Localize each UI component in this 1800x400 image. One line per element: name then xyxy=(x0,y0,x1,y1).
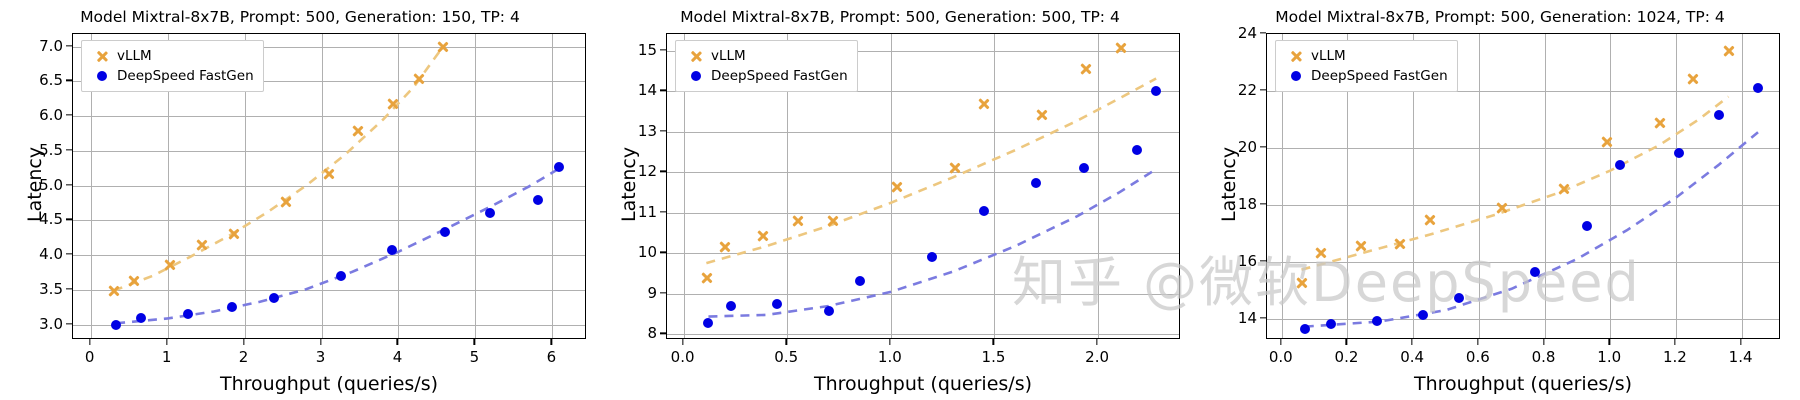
data-point-vllm xyxy=(1114,42,1127,55)
circle-marker-icon xyxy=(1283,71,1309,81)
y-axis-tick-label: 12 xyxy=(638,162,657,180)
x-marker-icon xyxy=(279,196,292,209)
circle-marker-icon xyxy=(269,293,279,303)
x-marker-icon xyxy=(756,230,769,243)
x-marker-icon xyxy=(1079,62,1092,75)
x-axis-tick-label: 1.0 xyxy=(1597,348,1621,366)
panel-title: Model Mixtral-8x7B, Prompt: 500, Generat… xyxy=(0,8,600,26)
circle-marker-icon xyxy=(387,245,397,255)
legend-item-fastgen[interactable]: DeepSpeed FastGen xyxy=(683,66,848,86)
circle-marker-icon xyxy=(1615,160,1625,170)
data-point-fastgen xyxy=(227,302,237,312)
legend-item-vllm[interactable]: vLLM xyxy=(1283,46,1448,66)
data-point-fastgen xyxy=(554,162,564,172)
figure-root: Model Mixtral-8x7B, Prompt: 500, Generat… xyxy=(0,0,1800,400)
data-point-fastgen xyxy=(1031,178,1041,188)
y-axis-tick-mark xyxy=(660,211,666,212)
chart-panel-2: Model Mixtral-8x7B, Prompt: 500, Generat… xyxy=(600,0,1200,400)
y-axis-label: Latency xyxy=(1218,147,1240,222)
circle-marker-icon xyxy=(485,208,495,218)
circle-marker-icon xyxy=(1031,178,1041,188)
circle-marker-icon xyxy=(136,313,146,323)
x-marker-icon xyxy=(1495,201,1508,214)
y-axis-tick-mark xyxy=(1260,146,1266,147)
x-axis-tick-label: 0.8 xyxy=(1532,348,1556,366)
x-marker-icon xyxy=(1686,72,1699,85)
panel-title: Model Mixtral-8x7B, Prompt: 500, Generat… xyxy=(600,8,1200,26)
y-axis-tick-mark xyxy=(660,292,666,293)
y-axis-tick-mark xyxy=(66,288,72,289)
y-axis-tick-mark xyxy=(660,90,666,91)
data-point-vllm xyxy=(756,230,769,243)
x-marker-icon xyxy=(351,125,364,138)
y-axis-tick-mark xyxy=(66,45,72,46)
circle-marker-icon xyxy=(227,302,237,312)
data-point-vllm xyxy=(700,271,713,284)
x-marker-icon xyxy=(719,240,732,253)
data-point-fastgen xyxy=(1418,310,1428,320)
data-point-fastgen xyxy=(183,309,193,319)
y-axis-tick-mark xyxy=(66,114,72,115)
y-axis-tick-mark xyxy=(1260,260,1266,261)
y-axis-tick-label: 4.0 xyxy=(39,245,63,263)
legend-label: DeepSpeed FastGen xyxy=(709,68,848,84)
legend-item-vllm[interactable]: vLLM xyxy=(89,46,254,66)
data-point-vllm xyxy=(1495,201,1508,214)
data-point-vllm xyxy=(322,168,335,181)
data-point-fastgen xyxy=(440,227,450,237)
x-axis-tick-label: 1.0 xyxy=(878,348,902,366)
data-point-vllm xyxy=(791,215,804,228)
data-point-vllm xyxy=(1036,108,1049,121)
data-point-fastgen xyxy=(824,306,834,316)
y-axis-tick-label: 3.0 xyxy=(39,315,63,333)
y-axis-tick-label: 6.0 xyxy=(39,106,63,124)
y-axis-tick-label: 16 xyxy=(1238,252,1257,270)
circle-marker-icon xyxy=(855,276,865,286)
legend-label: vLLM xyxy=(709,48,746,64)
circle-marker-icon xyxy=(703,318,713,328)
plot-area: vLLMDeepSpeed FastGen xyxy=(1266,33,1780,339)
data-point-vllm xyxy=(1600,135,1613,148)
y-axis-label: Latency xyxy=(618,147,640,222)
y-axis-tick-mark xyxy=(66,184,72,185)
legend-item-fastgen[interactable]: DeepSpeed FastGen xyxy=(89,66,254,86)
data-point-vllm xyxy=(1722,45,1735,58)
x-axis-tick-label: 0.6 xyxy=(1466,348,1490,366)
legend-label: DeepSpeed FastGen xyxy=(115,68,254,84)
circle-marker-icon xyxy=(979,206,989,216)
x-marker-icon xyxy=(227,228,240,241)
circle-marker-icon xyxy=(1372,316,1382,326)
y-axis-tick-label: 14 xyxy=(1238,309,1257,327)
data-point-vllm xyxy=(1295,277,1308,290)
circle-marker-icon xyxy=(1079,163,1089,173)
circle-marker-icon xyxy=(1418,310,1428,320)
legend-item-vllm[interactable]: vLLM xyxy=(683,46,848,66)
data-point-vllm xyxy=(826,215,839,228)
data-point-fastgen xyxy=(533,195,543,205)
data-point-vllm xyxy=(1653,116,1666,129)
y-axis-tick-mark xyxy=(66,323,72,324)
x-marker-icon xyxy=(386,98,399,111)
data-point-fastgen xyxy=(269,293,279,303)
data-point-vllm xyxy=(351,125,364,138)
y-axis-label: Latency xyxy=(24,147,46,222)
data-point-fastgen xyxy=(927,252,937,262)
x-axis-tick-label: 1.5 xyxy=(982,348,1006,366)
circle-marker-icon xyxy=(89,71,115,81)
data-point-vllm xyxy=(413,72,426,85)
x-marker-icon xyxy=(1354,240,1367,253)
legend-label: DeepSpeed FastGen xyxy=(1309,68,1448,84)
data-point-vllm xyxy=(1079,62,1092,75)
legend: vLLMDeepSpeed FastGen xyxy=(1275,40,1458,92)
data-point-fastgen xyxy=(387,245,397,255)
legend: vLLMDeepSpeed FastGen xyxy=(81,40,264,92)
circle-marker-icon xyxy=(1753,83,1763,93)
y-axis-tick-mark xyxy=(66,80,72,81)
data-point-vllm xyxy=(1315,246,1328,259)
circle-marker-icon xyxy=(336,271,346,281)
x-axis-tick-label: 2 xyxy=(239,348,249,366)
y-axis-tick-mark xyxy=(66,219,72,220)
x-axis-label: Throughput (queries/s) xyxy=(1266,373,1780,395)
y-axis-tick-label: 9 xyxy=(647,284,657,302)
x-axis-tick-label: 0.0 xyxy=(1269,348,1293,366)
circle-marker-icon xyxy=(927,252,937,262)
data-point-vllm xyxy=(1354,240,1367,253)
data-point-vllm xyxy=(107,284,120,297)
y-axis-tick-label: 7.0 xyxy=(39,37,63,55)
x-marker-icon xyxy=(791,215,804,228)
y-axis-tick-label: 8 xyxy=(647,324,657,342)
data-point-fastgen xyxy=(485,208,495,218)
circle-marker-icon xyxy=(1582,221,1592,231)
data-point-vllm xyxy=(163,258,176,271)
x-axis-tick-label: 0 xyxy=(85,348,95,366)
data-point-vllm xyxy=(949,161,962,174)
y-axis-tick-mark xyxy=(66,149,72,150)
data-point-fastgen xyxy=(1132,145,1142,155)
circle-marker-icon xyxy=(726,301,736,311)
x-axis-tick-label: 5 xyxy=(470,348,480,366)
circle-marker-icon xyxy=(183,309,193,319)
circle-marker-icon xyxy=(1714,110,1724,120)
circle-marker-icon xyxy=(683,71,709,81)
trend-line-fastgen xyxy=(1305,132,1758,326)
y-axis-tick-label: 11 xyxy=(638,203,657,221)
y-axis-tick-mark xyxy=(660,49,666,50)
data-point-vllm xyxy=(891,180,904,193)
circle-marker-icon xyxy=(1132,145,1142,155)
data-point-fastgen xyxy=(1326,319,1336,329)
y-axis-tick-label: 24 xyxy=(1238,24,1257,42)
y-axis-tick-label: 22 xyxy=(1238,81,1257,99)
plot-area: vLLMDeepSpeed FastGen xyxy=(72,33,586,339)
data-point-vllm xyxy=(196,238,209,251)
legend-item-fastgen[interactable]: DeepSpeed FastGen xyxy=(1283,66,1448,86)
data-point-fastgen xyxy=(979,206,989,216)
x-marker-icon xyxy=(107,284,120,297)
data-point-fastgen xyxy=(772,299,782,309)
data-point-fastgen xyxy=(1300,324,1310,334)
x-marker-icon xyxy=(978,97,991,110)
x-axis-tick-label: 0.4 xyxy=(1400,348,1424,366)
x-marker-icon xyxy=(826,215,839,228)
x-marker-icon xyxy=(1722,45,1735,58)
legend: vLLMDeepSpeed FastGen xyxy=(675,40,858,92)
circle-marker-icon xyxy=(1300,324,1310,334)
y-axis-tick-mark xyxy=(660,333,666,334)
x-marker-icon xyxy=(322,168,335,181)
x-axis-tick-label: 1.2 xyxy=(1663,348,1687,366)
data-point-fastgen xyxy=(1530,267,1540,277)
y-axis-tick-label: 15 xyxy=(638,41,657,59)
trend-line-vllm xyxy=(706,79,1156,264)
x-marker-icon xyxy=(89,50,115,63)
plot-area: vLLMDeepSpeed FastGen xyxy=(666,33,1180,339)
circle-marker-icon xyxy=(1151,86,1161,96)
circle-marker-icon xyxy=(1454,293,1464,303)
data-point-fastgen xyxy=(1582,221,1592,231)
data-point-fastgen xyxy=(855,276,865,286)
y-axis-tick-mark xyxy=(1260,317,1266,318)
y-axis-tick-mark xyxy=(1260,203,1266,204)
x-axis-tick-label: 1.4 xyxy=(1729,348,1753,366)
data-point-vllm xyxy=(1558,182,1571,195)
data-point-vllm xyxy=(1394,238,1407,251)
y-axis-tick-mark xyxy=(1260,32,1266,33)
chart-panel-1: Model Mixtral-8x7B, Prompt: 500, Generat… xyxy=(0,0,600,400)
circle-marker-icon xyxy=(1530,267,1540,277)
data-point-fastgen xyxy=(1372,316,1382,326)
x-axis-tick-label: 4 xyxy=(393,348,403,366)
x-axis-tick-label: 0.5 xyxy=(774,348,798,366)
data-point-fastgen xyxy=(136,313,146,323)
legend-label: vLLM xyxy=(115,48,152,64)
x-axis-tick-label: 0.0 xyxy=(671,348,695,366)
x-marker-icon xyxy=(1036,108,1049,121)
data-point-vllm xyxy=(1423,214,1436,227)
y-axis-tick-label: 18 xyxy=(1238,195,1257,213)
data-point-vllm xyxy=(279,196,292,209)
x-marker-icon xyxy=(437,40,450,53)
data-point-vllm xyxy=(1686,72,1699,85)
circle-marker-icon xyxy=(1674,148,1684,158)
panel-title: Model Mixtral-8x7B, Prompt: 500, Generat… xyxy=(1200,8,1800,26)
data-point-fastgen xyxy=(1079,163,1089,173)
legend-label: vLLM xyxy=(1309,48,1346,64)
x-marker-icon xyxy=(413,72,426,85)
data-point-vllm xyxy=(127,274,140,287)
x-marker-icon xyxy=(1394,238,1407,251)
x-marker-icon xyxy=(1423,214,1436,227)
y-axis-tick-mark xyxy=(660,130,666,131)
y-axis-tick-mark xyxy=(660,252,666,253)
y-axis-tick-label: 14 xyxy=(638,81,657,99)
y-axis-tick-label: 13 xyxy=(638,122,657,140)
circle-marker-icon xyxy=(772,299,782,309)
x-axis-tick-label: 0.2 xyxy=(1335,348,1359,366)
x-axis-tick-label: 2.0 xyxy=(1085,348,1109,366)
data-point-fastgen xyxy=(1615,160,1625,170)
circle-marker-icon xyxy=(1326,319,1336,329)
x-axis-tick-label: 3 xyxy=(316,348,326,366)
data-point-vllm xyxy=(386,98,399,111)
data-point-fastgen xyxy=(111,320,121,330)
y-axis-tick-label: 20 xyxy=(1238,138,1257,156)
x-marker-icon xyxy=(1600,135,1613,148)
x-marker-icon xyxy=(1114,42,1127,55)
data-point-fastgen xyxy=(1454,293,1464,303)
y-axis-tick-mark xyxy=(660,171,666,172)
x-axis-tick-label: 6 xyxy=(547,348,557,366)
x-marker-icon xyxy=(163,258,176,271)
x-marker-icon xyxy=(1283,50,1309,63)
circle-marker-icon xyxy=(440,227,450,237)
y-axis-tick-mark xyxy=(66,253,72,254)
data-point-vllm xyxy=(978,97,991,110)
x-marker-icon xyxy=(1653,116,1666,129)
circle-marker-icon xyxy=(533,195,543,205)
circle-marker-icon xyxy=(554,162,564,172)
data-point-fastgen xyxy=(1674,148,1684,158)
chart-panel-3: Model Mixtral-8x7B, Prompt: 500, Generat… xyxy=(1200,0,1800,400)
data-point-vllm xyxy=(437,40,450,53)
data-point-fastgen xyxy=(1151,86,1161,96)
x-marker-icon xyxy=(1558,182,1571,195)
x-marker-icon xyxy=(683,50,709,63)
x-marker-icon xyxy=(127,274,140,287)
x-marker-icon xyxy=(1315,246,1328,259)
data-point-fastgen xyxy=(726,301,736,311)
x-axis-label: Throughput (queries/s) xyxy=(666,373,1180,395)
data-point-vllm xyxy=(719,240,732,253)
x-axis-label: Throughput (queries/s) xyxy=(72,373,586,395)
data-point-vllm xyxy=(227,228,240,241)
trend-line-fastgen xyxy=(116,169,558,323)
data-point-fastgen xyxy=(1714,110,1724,120)
x-marker-icon xyxy=(700,271,713,284)
x-marker-icon xyxy=(1295,277,1308,290)
x-axis-tick-label: 1 xyxy=(162,348,172,366)
data-point-fastgen xyxy=(1753,83,1763,93)
circle-marker-icon xyxy=(824,306,834,316)
y-axis-tick-label: 6.5 xyxy=(39,71,63,89)
x-marker-icon xyxy=(891,180,904,193)
y-axis-tick-label: 3.5 xyxy=(39,280,63,298)
data-point-fastgen xyxy=(336,271,346,281)
x-marker-icon xyxy=(196,238,209,251)
circle-marker-icon xyxy=(111,320,121,330)
y-axis-tick-label: 10 xyxy=(638,243,657,261)
data-point-fastgen xyxy=(703,318,713,328)
x-marker-icon xyxy=(949,161,962,174)
y-axis-tick-mark xyxy=(1260,89,1266,90)
